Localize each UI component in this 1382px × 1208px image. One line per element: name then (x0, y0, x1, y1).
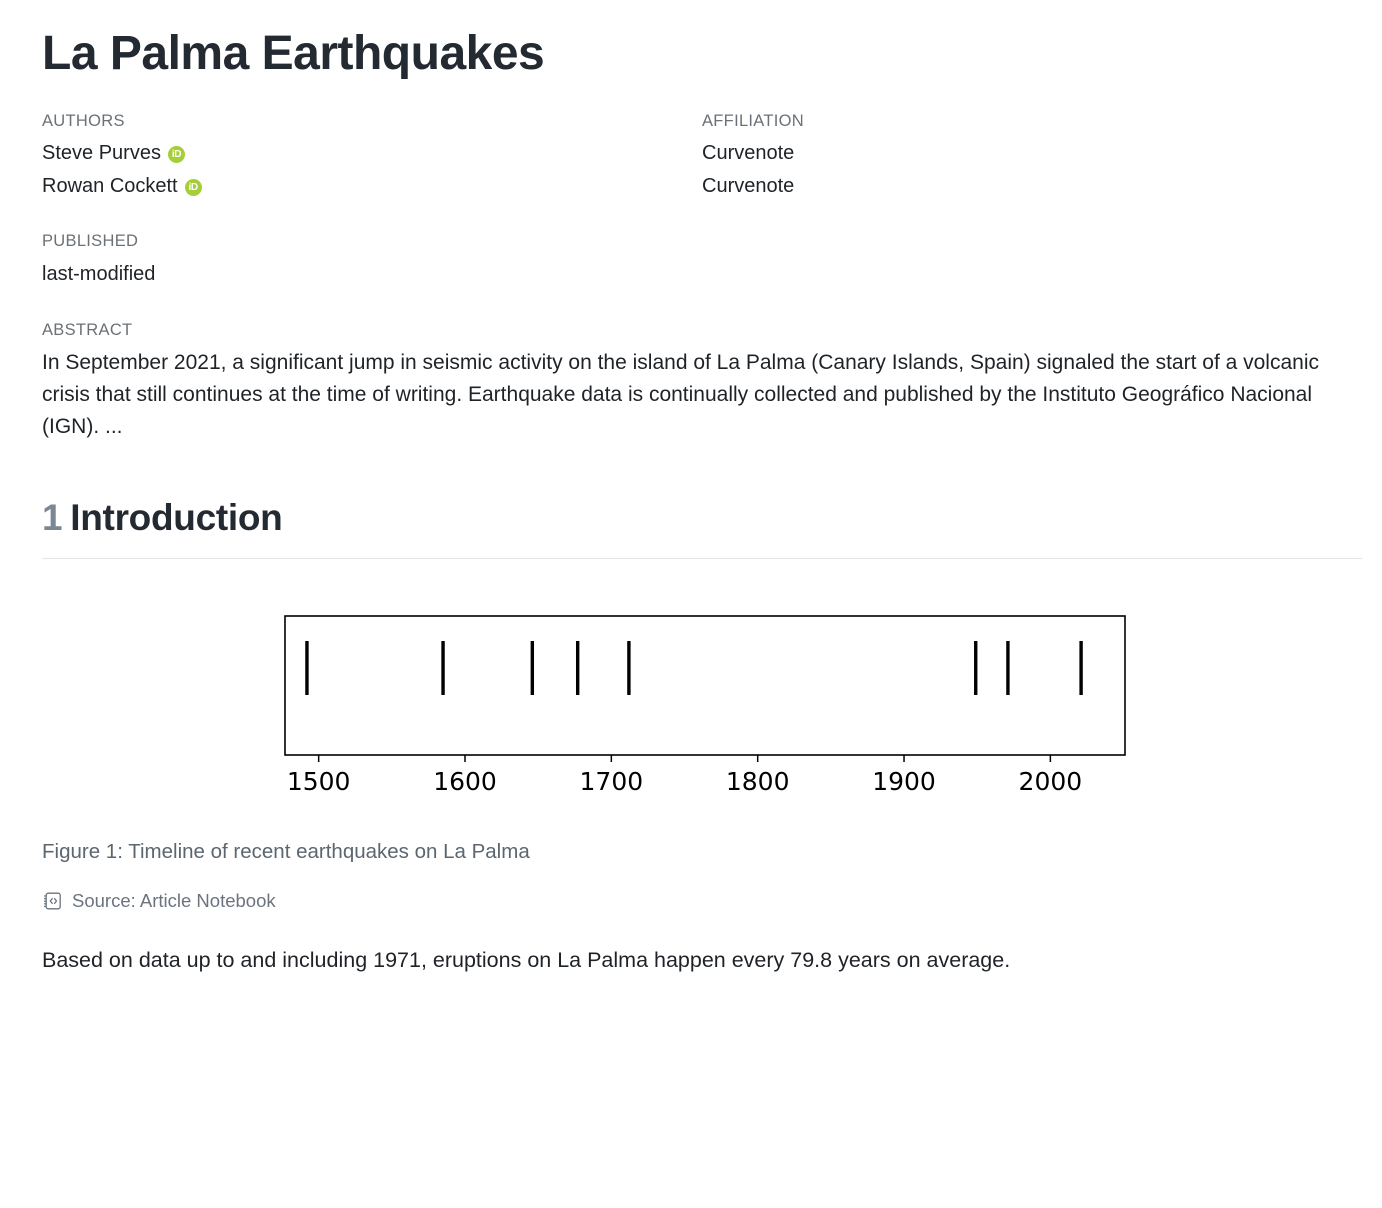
orcid-icon[interactable]: iD (185, 179, 202, 196)
body-paragraph: Based on data up to and including 1971, … (42, 944, 1302, 978)
x-tick-label: 1900 (872, 767, 936, 796)
figure-1: 150016001700180019002000 Figure 1: Timel… (42, 603, 1362, 912)
timeline-svg: 150016001700180019002000 (42, 603, 1362, 803)
page-title: La Palma Earthquakes (42, 0, 1362, 83)
plot-frame (285, 616, 1125, 755)
section-number: 1 (42, 497, 62, 538)
section-title: Introduction (70, 497, 282, 538)
x-tick-label: 1600 (433, 767, 497, 796)
frontmatter: AUTHORS Steve Purves iD Rowan Cockett iD… (42, 109, 1362, 205)
section-divider (42, 558, 1362, 559)
timeline-plot: 150016001700180019002000 (42, 603, 1362, 803)
affiliation-block: AFFILIATION Curvenote Curvenote (702, 109, 1362, 205)
x-tick-label: 1500 (287, 767, 351, 796)
x-tick-label: 1800 (726, 767, 790, 796)
published-value: last-modified (42, 259, 1362, 290)
author-name: Steve Purves (42, 138, 161, 169)
published-block: PUBLISHED last-modified (42, 229, 1362, 290)
x-tick-label: 2000 (1019, 767, 1083, 796)
author-name: Rowan Cockett (42, 171, 178, 202)
affiliation-value: Curvenote (702, 138, 1362, 169)
authors-label: AUTHORS (42, 109, 702, 135)
figure-source[interactable]: Source: Article Notebook (42, 890, 1362, 912)
affiliation-value: Curvenote (702, 171, 1362, 202)
author-entry: Steve Purves iD (42, 138, 702, 169)
authors-block: AUTHORS Steve Purves iD Rowan Cockett iD (42, 109, 702, 205)
notebook-icon (42, 890, 64, 912)
figure-source-text: Source: Article Notebook (72, 890, 276, 912)
section-heading: 1Introduction (42, 495, 1362, 541)
author-entry: Rowan Cockett iD (42, 171, 702, 202)
abstract-text: In September 2021, a significant jump in… (42, 347, 1354, 443)
abstract-label: ABSTRACT (42, 318, 1362, 344)
x-tick-label: 1700 (580, 767, 644, 796)
published-label: PUBLISHED (42, 229, 1362, 255)
affiliation-label: AFFILIATION (702, 109, 1362, 135)
figure-caption: Figure 1: Timeline of recent earthquakes… (42, 837, 1362, 868)
x-axis-ticks (319, 755, 1051, 762)
x-axis-labels: 150016001700180019002000 (287, 767, 1082, 796)
article-page: La Palma Earthquakes AUTHORS Steve Purve… (0, 0, 1382, 1208)
abstract-block: ABSTRACT In September 2021, a significan… (42, 318, 1362, 443)
orcid-icon[interactable]: iD (168, 146, 185, 163)
